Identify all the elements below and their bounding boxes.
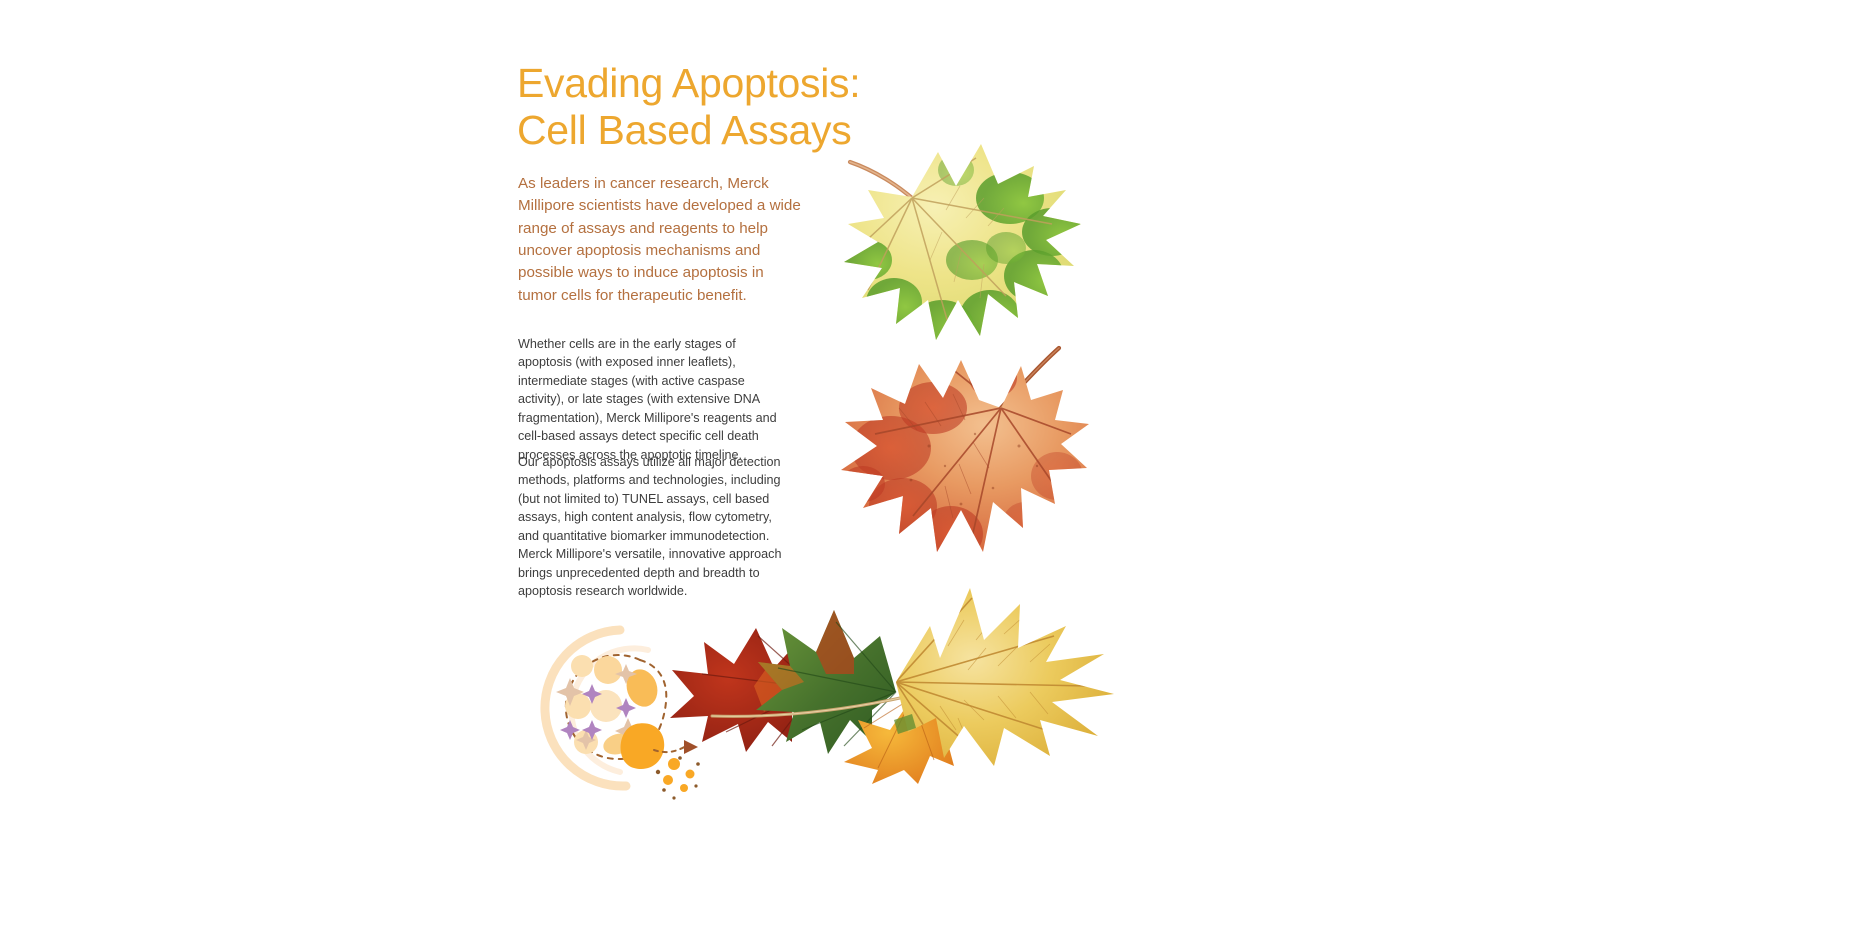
arrow-head-icon	[684, 740, 698, 754]
brochure-page: Evading Apoptosis: Cell Based Assays As …	[0, 0, 1849, 936]
intro-paragraph: As leaders in cancer research, Merck Mil…	[518, 173, 804, 307]
maple-leaf-pile-image	[668, 570, 1128, 785]
page-sheet: Evading Apoptosis: Cell Based Assays As …	[508, 0, 1138, 936]
green-yellow-maple-leaf-image	[838, 140, 1098, 360]
bleb-shape	[621, 723, 665, 769]
apoptotic-cell-diagram-icon	[508, 620, 718, 800]
red-orange-maple-leaf-image	[833, 338, 1093, 578]
apoptotic-bodies	[656, 756, 700, 799]
body-paragraph-1: Whether cells are in the early stages of…	[518, 335, 790, 465]
